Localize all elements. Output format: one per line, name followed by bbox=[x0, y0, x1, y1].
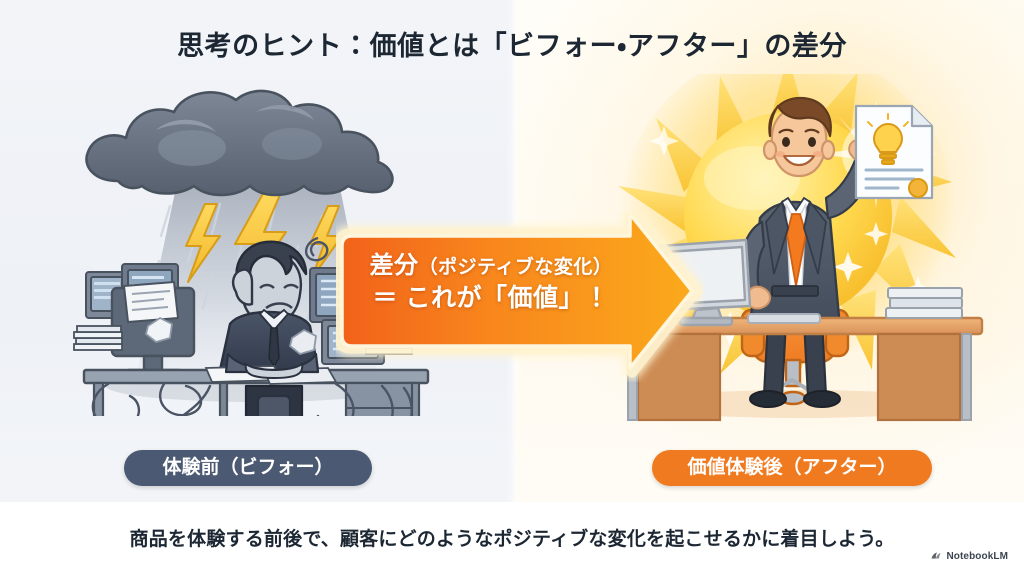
page-title: 思考のヒント：価値とは「ビフォー・アフター」の差分 bbox=[0, 24, 1024, 63]
watermark-label: NotebookLM bbox=[946, 551, 1008, 562]
notebooklm-watermark: NotebookLM bbox=[930, 550, 1008, 562]
notebooklm-logo-icon bbox=[930, 550, 942, 562]
before-label-pill: 体験前（ビフォー） bbox=[124, 450, 372, 486]
slide-caption: 商品を体験する前後で、顧客にどのようなポジティブな変化を起こせるかに着目しよう。 bbox=[0, 524, 1024, 551]
value-difference-arrow: 差分（ポジティブな変化） ＝ これが「価値」！ bbox=[336, 212, 704, 382]
slide-root: 差分（ポジティブな変化） ＝ これが「価値」！ 体験前（ビフォー） 価値体験後（… bbox=[0, 0, 1024, 572]
after-label-pill: 価値体験後（アフター） bbox=[652, 450, 932, 486]
